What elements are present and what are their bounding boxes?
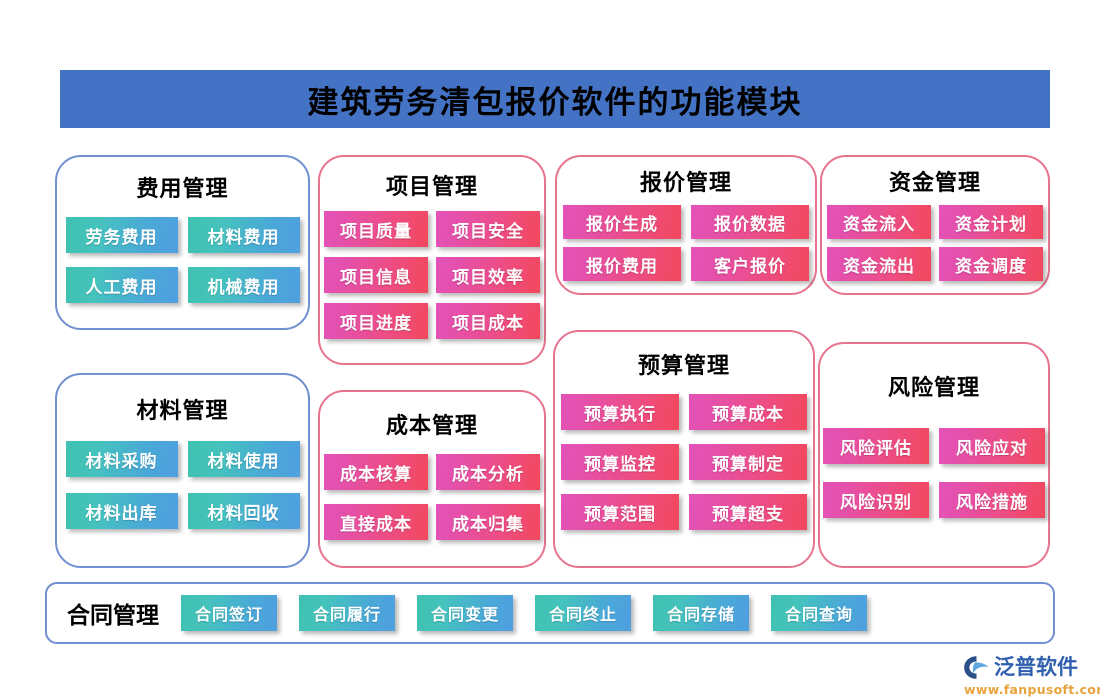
module-card-funds: 资金管理资金流入资金计划资金流出资金调度	[820, 155, 1050, 295]
module-item-project-2[interactable]: 项目安全	[436, 211, 540, 247]
module-item-project-4[interactable]: 项目效率	[436, 257, 540, 293]
contract-management-bar: 合同管理 合同签订合同履行合同变更合同终止合同存储合同查询	[45, 582, 1055, 644]
contract-management-label: 合同管理	[67, 596, 159, 630]
module-card-pill-grid: 资金流入资金计划资金流出资金调度	[822, 205, 1048, 281]
module-item-material-2[interactable]: 材料使用	[188, 441, 300, 477]
module-item-quotation-2[interactable]: 报价数据	[691, 205, 809, 239]
module-item-funds-3[interactable]: 资金流出	[827, 247, 931, 281]
module-card-title: 材料管理	[57, 393, 308, 425]
module-item-quotation-3[interactable]: 报价费用	[563, 247, 681, 281]
module-card-cost-expense: 费用管理劳务费用材料费用人工费用机械费用	[55, 155, 310, 330]
module-item-risk-3[interactable]: 风险识别	[823, 482, 929, 518]
contract-item-1[interactable]: 合同签订	[181, 595, 277, 631]
module-item-budget-3[interactable]: 预算监控	[561, 444, 679, 480]
module-item-budget-2[interactable]: 预算成本	[689, 394, 807, 430]
module-item-cost-expense-2[interactable]: 材料费用	[188, 217, 300, 253]
module-item-material-4[interactable]: 材料回收	[188, 493, 300, 529]
module-item-cost-expense-4[interactable]: 机械费用	[188, 267, 300, 303]
module-card-pill-grid: 劳务费用材料费用人工费用机械费用	[57, 217, 308, 303]
module-card-pill-grid: 材料采购材料使用材料出库材料回收	[57, 441, 308, 529]
module-item-budget-6[interactable]: 预算超支	[689, 494, 807, 530]
module-card-risk: 风险管理风险评估风险应对风险识别风险措施	[818, 342, 1050, 568]
module-card-title: 费用管理	[57, 171, 308, 203]
contract-item-5[interactable]: 合同存储	[653, 595, 749, 631]
module-item-project-3[interactable]: 项目信息	[324, 257, 428, 293]
module-item-cost-3[interactable]: 直接成本	[324, 504, 428, 540]
module-item-quotation-4[interactable]: 客户报价	[691, 247, 809, 281]
module-item-cost-expense-3[interactable]: 人工费用	[66, 267, 178, 303]
module-card-material: 材料管理材料采购材料使用材料出库材料回收	[55, 373, 310, 568]
module-item-cost-1[interactable]: 成本核算	[324, 454, 428, 490]
module-item-project-6[interactable]: 项目成本	[436, 303, 540, 339]
module-card-title: 资金管理	[822, 165, 1048, 197]
module-item-risk-4[interactable]: 风险措施	[939, 482, 1045, 518]
module-card-pill-grid: 成本核算成本分析直接成本成本归集	[320, 454, 544, 540]
module-item-budget-1[interactable]: 预算执行	[561, 394, 679, 430]
module-item-funds-4[interactable]: 资金调度	[939, 247, 1043, 281]
page-title-banner: 建筑劳务清包报价软件的功能模块	[60, 70, 1050, 128]
brand-url: www.fanpusoft.com	[964, 682, 1095, 697]
module-item-project-1[interactable]: 项目质量	[324, 211, 428, 247]
brand-name: 泛普软件	[994, 657, 1078, 678]
module-item-risk-2[interactable]: 风险应对	[939, 428, 1045, 464]
contract-item-3[interactable]: 合同变更	[417, 595, 513, 631]
module-card-pill-grid: 预算执行预算成本预算监控预算制定预算范围预算超支	[555, 394, 813, 530]
module-item-budget-4[interactable]: 预算制定	[689, 444, 807, 480]
module-card-title: 成本管理	[320, 408, 544, 440]
module-card-title: 风险管理	[820, 370, 1048, 402]
module-item-funds-1[interactable]: 资金流入	[827, 205, 931, 239]
module-card-quotation: 报价管理报价生成报价数据报价费用客户报价	[555, 155, 817, 295]
brand-logo: 泛普软件 www.fanpusoft.com	[963, 655, 1095, 697]
module-card-title: 报价管理	[557, 165, 815, 197]
module-item-cost-2[interactable]: 成本分析	[436, 454, 540, 490]
module-item-quotation-1[interactable]: 报价生成	[563, 205, 681, 239]
module-card-title: 项目管理	[320, 169, 544, 201]
module-card-cost: 成本管理成本核算成本分析直接成本成本归集	[318, 390, 546, 568]
page-title: 建筑劳务清包报价软件的功能模块	[308, 77, 803, 122]
contract-item-2[interactable]: 合同履行	[299, 595, 395, 631]
module-item-project-5[interactable]: 项目进度	[324, 303, 428, 339]
module-card-budget: 预算管理预算执行预算成本预算监控预算制定预算范围预算超支	[553, 330, 815, 568]
contract-pill-group: 合同签订合同履行合同变更合同终止合同存储合同查询	[181, 595, 867, 631]
module-card-title: 预算管理	[555, 348, 813, 380]
module-item-material-1[interactable]: 材料采购	[66, 441, 178, 477]
module-card-pill-grid: 风险评估风险应对风险识别风险措施	[820, 428, 1048, 518]
contract-item-4[interactable]: 合同终止	[535, 595, 631, 631]
module-item-budget-5[interactable]: 预算范围	[561, 494, 679, 530]
module-item-cost-4[interactable]: 成本归集	[436, 504, 540, 540]
module-item-funds-2[interactable]: 资金计划	[939, 205, 1043, 239]
module-card-pill-grid: 项目质量项目安全项目信息项目效率项目进度项目成本	[320, 211, 544, 339]
module-item-cost-expense-1[interactable]: 劳务费用	[66, 217, 178, 253]
fanpu-swoosh-icon	[963, 655, 990, 680]
contract-item-6[interactable]: 合同查询	[771, 595, 867, 631]
module-card-pill-grid: 报价生成报价数据报价费用客户报价	[557, 205, 815, 281]
module-item-material-3[interactable]: 材料出库	[66, 493, 178, 529]
module-card-project: 项目管理项目质量项目安全项目信息项目效率项目进度项目成本	[318, 155, 546, 365]
module-item-risk-1[interactable]: 风险评估	[823, 428, 929, 464]
